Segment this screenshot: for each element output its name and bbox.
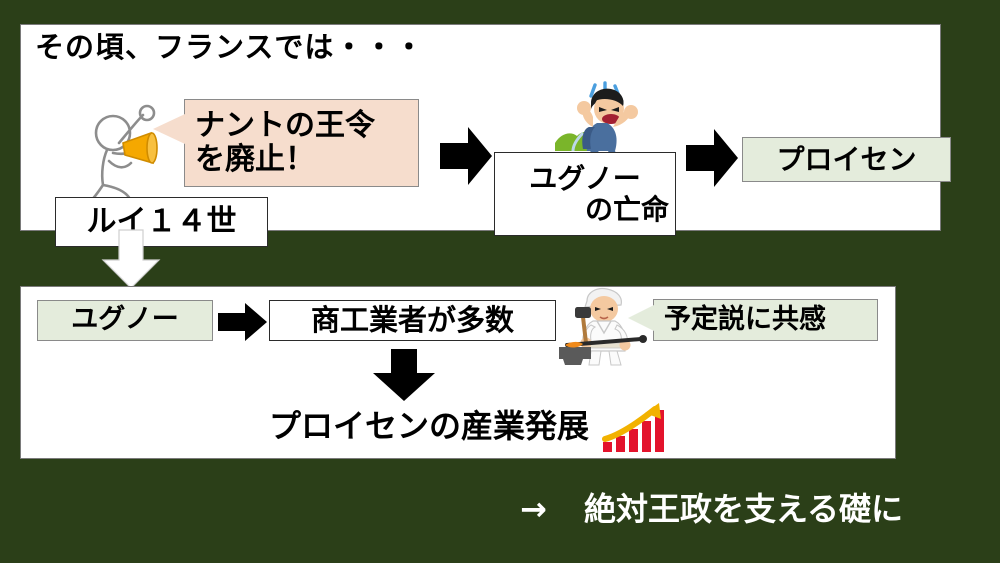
- arrow-down-icon: [369, 347, 439, 403]
- speech-balloon-predestination: 予定説に共感: [653, 299, 878, 341]
- label-box-huguenot-exile: ユグノー の亡命: [494, 152, 676, 236]
- label-box-prussia: プロイセン: [742, 137, 951, 182]
- industry-development-text: プロイセンの産業発展: [269, 409, 589, 445]
- speech-balloon-edict: ナントの王令 を廃止！: [184, 99, 419, 187]
- growth-chart-icon: [601, 401, 675, 453]
- label-box-huguenot-text: ユグノー: [71, 305, 178, 335]
- arrow-right-icon: [217, 301, 269, 343]
- label-box-prussia-text: プロイセン: [776, 144, 916, 175]
- label-box-huguenot: ユグノー: [37, 300, 213, 341]
- balloon-tail-icon: [153, 114, 185, 144]
- label-box-merchants: 商工業者が多数: [269, 300, 556, 341]
- person-with-megaphone-icon: [73, 91, 185, 211]
- conclusion-line: → 絶対王政を支える礎に: [520, 484, 903, 530]
- top-panel: その頃、フランスでは・・・: [20, 24, 941, 231]
- arrow-right-icon: [438, 123, 494, 189]
- arrow-right-glyph-icon: →: [520, 490, 547, 528]
- mid-panel: ユグノー 商工業者が多数: [20, 286, 896, 459]
- balloon-predestination-text: 予定説に共感: [664, 305, 877, 335]
- industry-development-line: プロイセンの産業発展: [269, 401, 675, 453]
- balloon-tail-icon: [628, 305, 654, 331]
- label-box-huguenot-exile-line1: ユグノー: [529, 163, 640, 194]
- label-box-merchants-text: 商工業者が多数: [311, 304, 514, 336]
- arrow-right-icon: [684, 125, 740, 191]
- arrow-down-icon: [100, 228, 162, 290]
- slide-canvas: その頃、フランスでは・・・: [0, 0, 1000, 563]
- top-panel-heading: その頃、フランスでは・・・: [35, 31, 424, 63]
- conclusion-text: 絶対王政を支える礎に: [584, 490, 903, 528]
- balloon-edict-line2: を廃止！: [195, 143, 418, 177]
- balloon-edict-line1: ナントの王令: [195, 109, 418, 143]
- label-box-huguenot-exile-line2: の亡命: [585, 194, 675, 225]
